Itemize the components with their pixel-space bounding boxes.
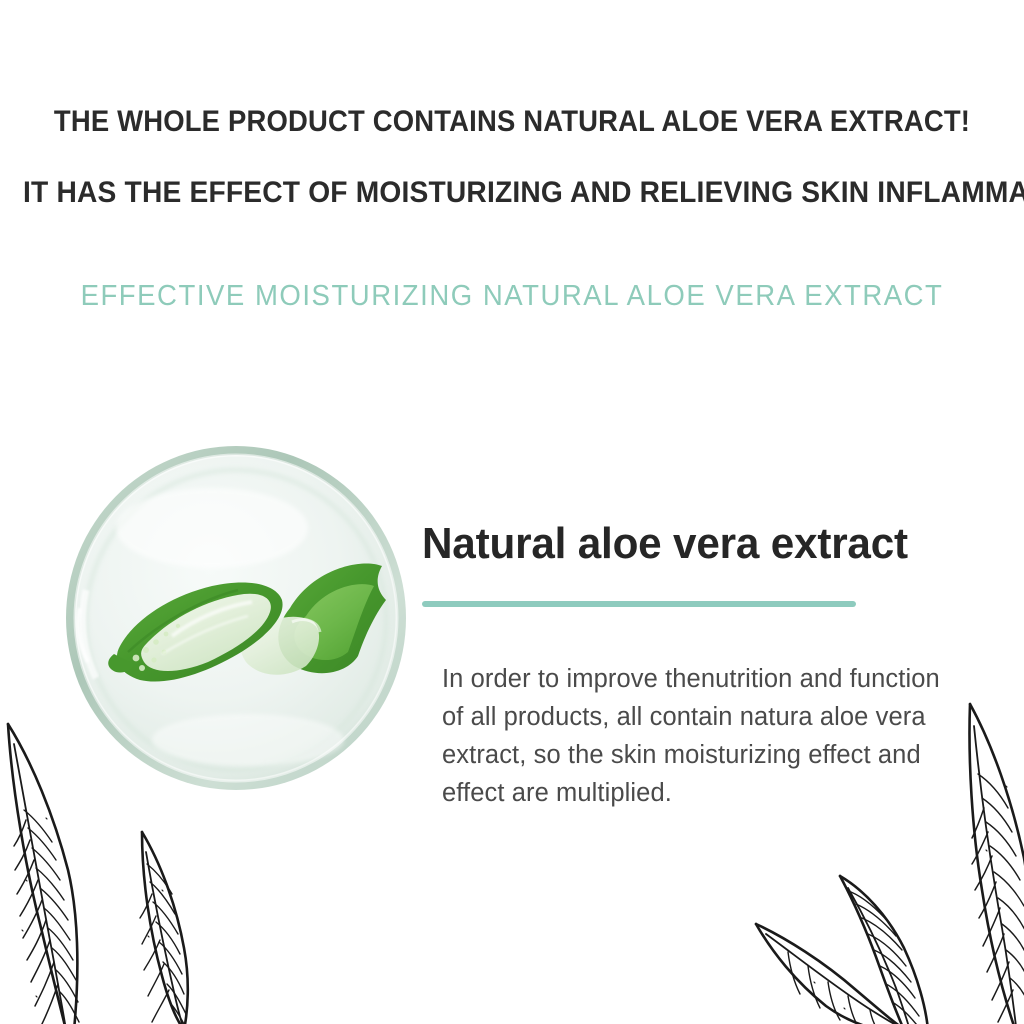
- hand-drawn-leaves-right: [748, 690, 1024, 1024]
- feature-title: Natural aloe vera extract: [422, 516, 960, 572]
- feature-content-column: Natural aloe vera extract In order to im…: [422, 516, 982, 572]
- headline-block: THE WHOLE PRODUCT CONTAINS NATURAL ALOE …: [0, 104, 1024, 211]
- subtitle-tagline: EFFECTIVE MOISTURIZING NATURAL ALOE VERA…: [26, 280, 999, 313]
- title-divider-rule: [422, 601, 856, 607]
- headline-primary: THE WHOLE PRODUCT CONTAINS NATURAL ALOE …: [36, 104, 988, 140]
- hand-drawn-leaves-left: [0, 700, 262, 1024]
- headline-secondary: IT HAS THE EFFECT OF MOISTURIZING AND RE…: [23, 175, 1001, 211]
- product-banner-page: THE WHOLE PRODUCT CONTAINS NATURAL ALOE …: [0, 0, 1024, 1024]
